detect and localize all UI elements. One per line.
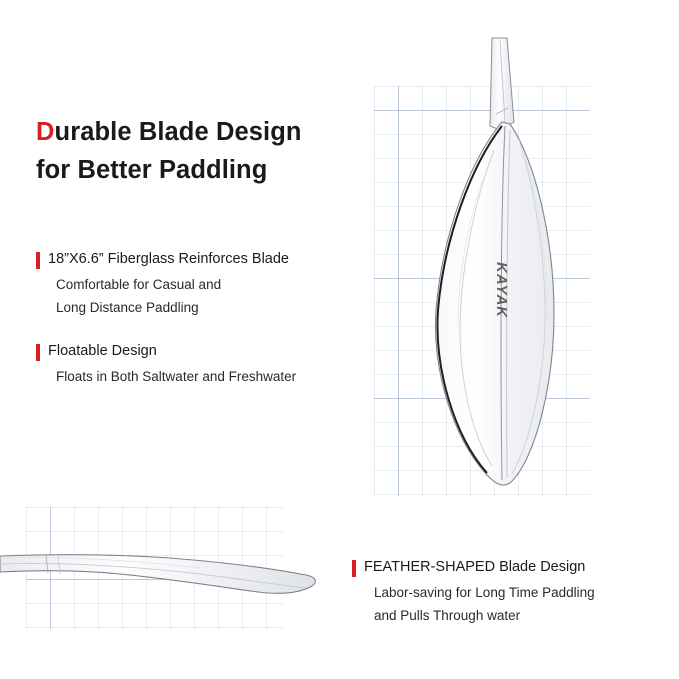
- headline-line-2: for Better Paddling: [36, 151, 366, 189]
- feature-block-fiberglass: 18”X6.6” Fiberglass Reinforces Blade Com…: [36, 250, 289, 319]
- paddle-blade-illustration: [374, 30, 604, 500]
- headline-drop-cap: D: [36, 118, 55, 146]
- headline-line-1-rest: urable Blade Design: [55, 118, 302, 146]
- accent-bar-icon: [36, 344, 40, 361]
- feature-block-floatable: Floatable Design Floats in Both Saltwate…: [36, 342, 296, 388]
- feature-title: FEATHER-SHAPED Blade Design: [364, 558, 585, 577]
- feature-title-row: Floatable Design: [36, 342, 296, 361]
- feature-title-row: FEATHER-SHAPED Blade Design: [352, 558, 595, 577]
- feature-description-line: Comfortable for Casual and: [56, 273, 289, 296]
- paddle-shaft-illustration: [0, 520, 330, 630]
- product-infographic-page: KAYAK Durable Blade Design for Better Pa…: [0, 0, 679, 679]
- feature-description-line: and Pulls Through water: [374, 604, 595, 627]
- feature-description: Floats in Both Saltwater and Freshwater: [56, 365, 296, 388]
- feature-description-line: Long Distance Paddling: [56, 296, 289, 319]
- accent-bar-icon: [36, 252, 40, 269]
- feature-title-row: 18”X6.6” Fiberglass Reinforces Blade: [36, 250, 289, 269]
- headline-line-1: Durable Blade Design: [36, 113, 366, 151]
- feature-description-line: Labor-saving for Long Time Paddling: [374, 581, 595, 604]
- feature-description-line: Floats in Both Saltwater and Freshwater: [56, 365, 296, 388]
- feature-title: Floatable Design: [48, 342, 157, 361]
- feature-title: 18”X6.6” Fiberglass Reinforces Blade: [48, 250, 289, 269]
- feature-description: Labor-saving for Long Time Paddling and …: [374, 581, 595, 627]
- accent-bar-icon: [352, 560, 356, 577]
- brand-mark: KAYAK: [493, 262, 510, 318]
- feature-description: Comfortable for Casual and Long Distance…: [56, 273, 289, 319]
- feature-block-feather-shaped: FEATHER-SHAPED Blade Design Labor-saving…: [352, 558, 595, 627]
- page-title: Durable Blade Design for Better Paddling: [36, 113, 366, 189]
